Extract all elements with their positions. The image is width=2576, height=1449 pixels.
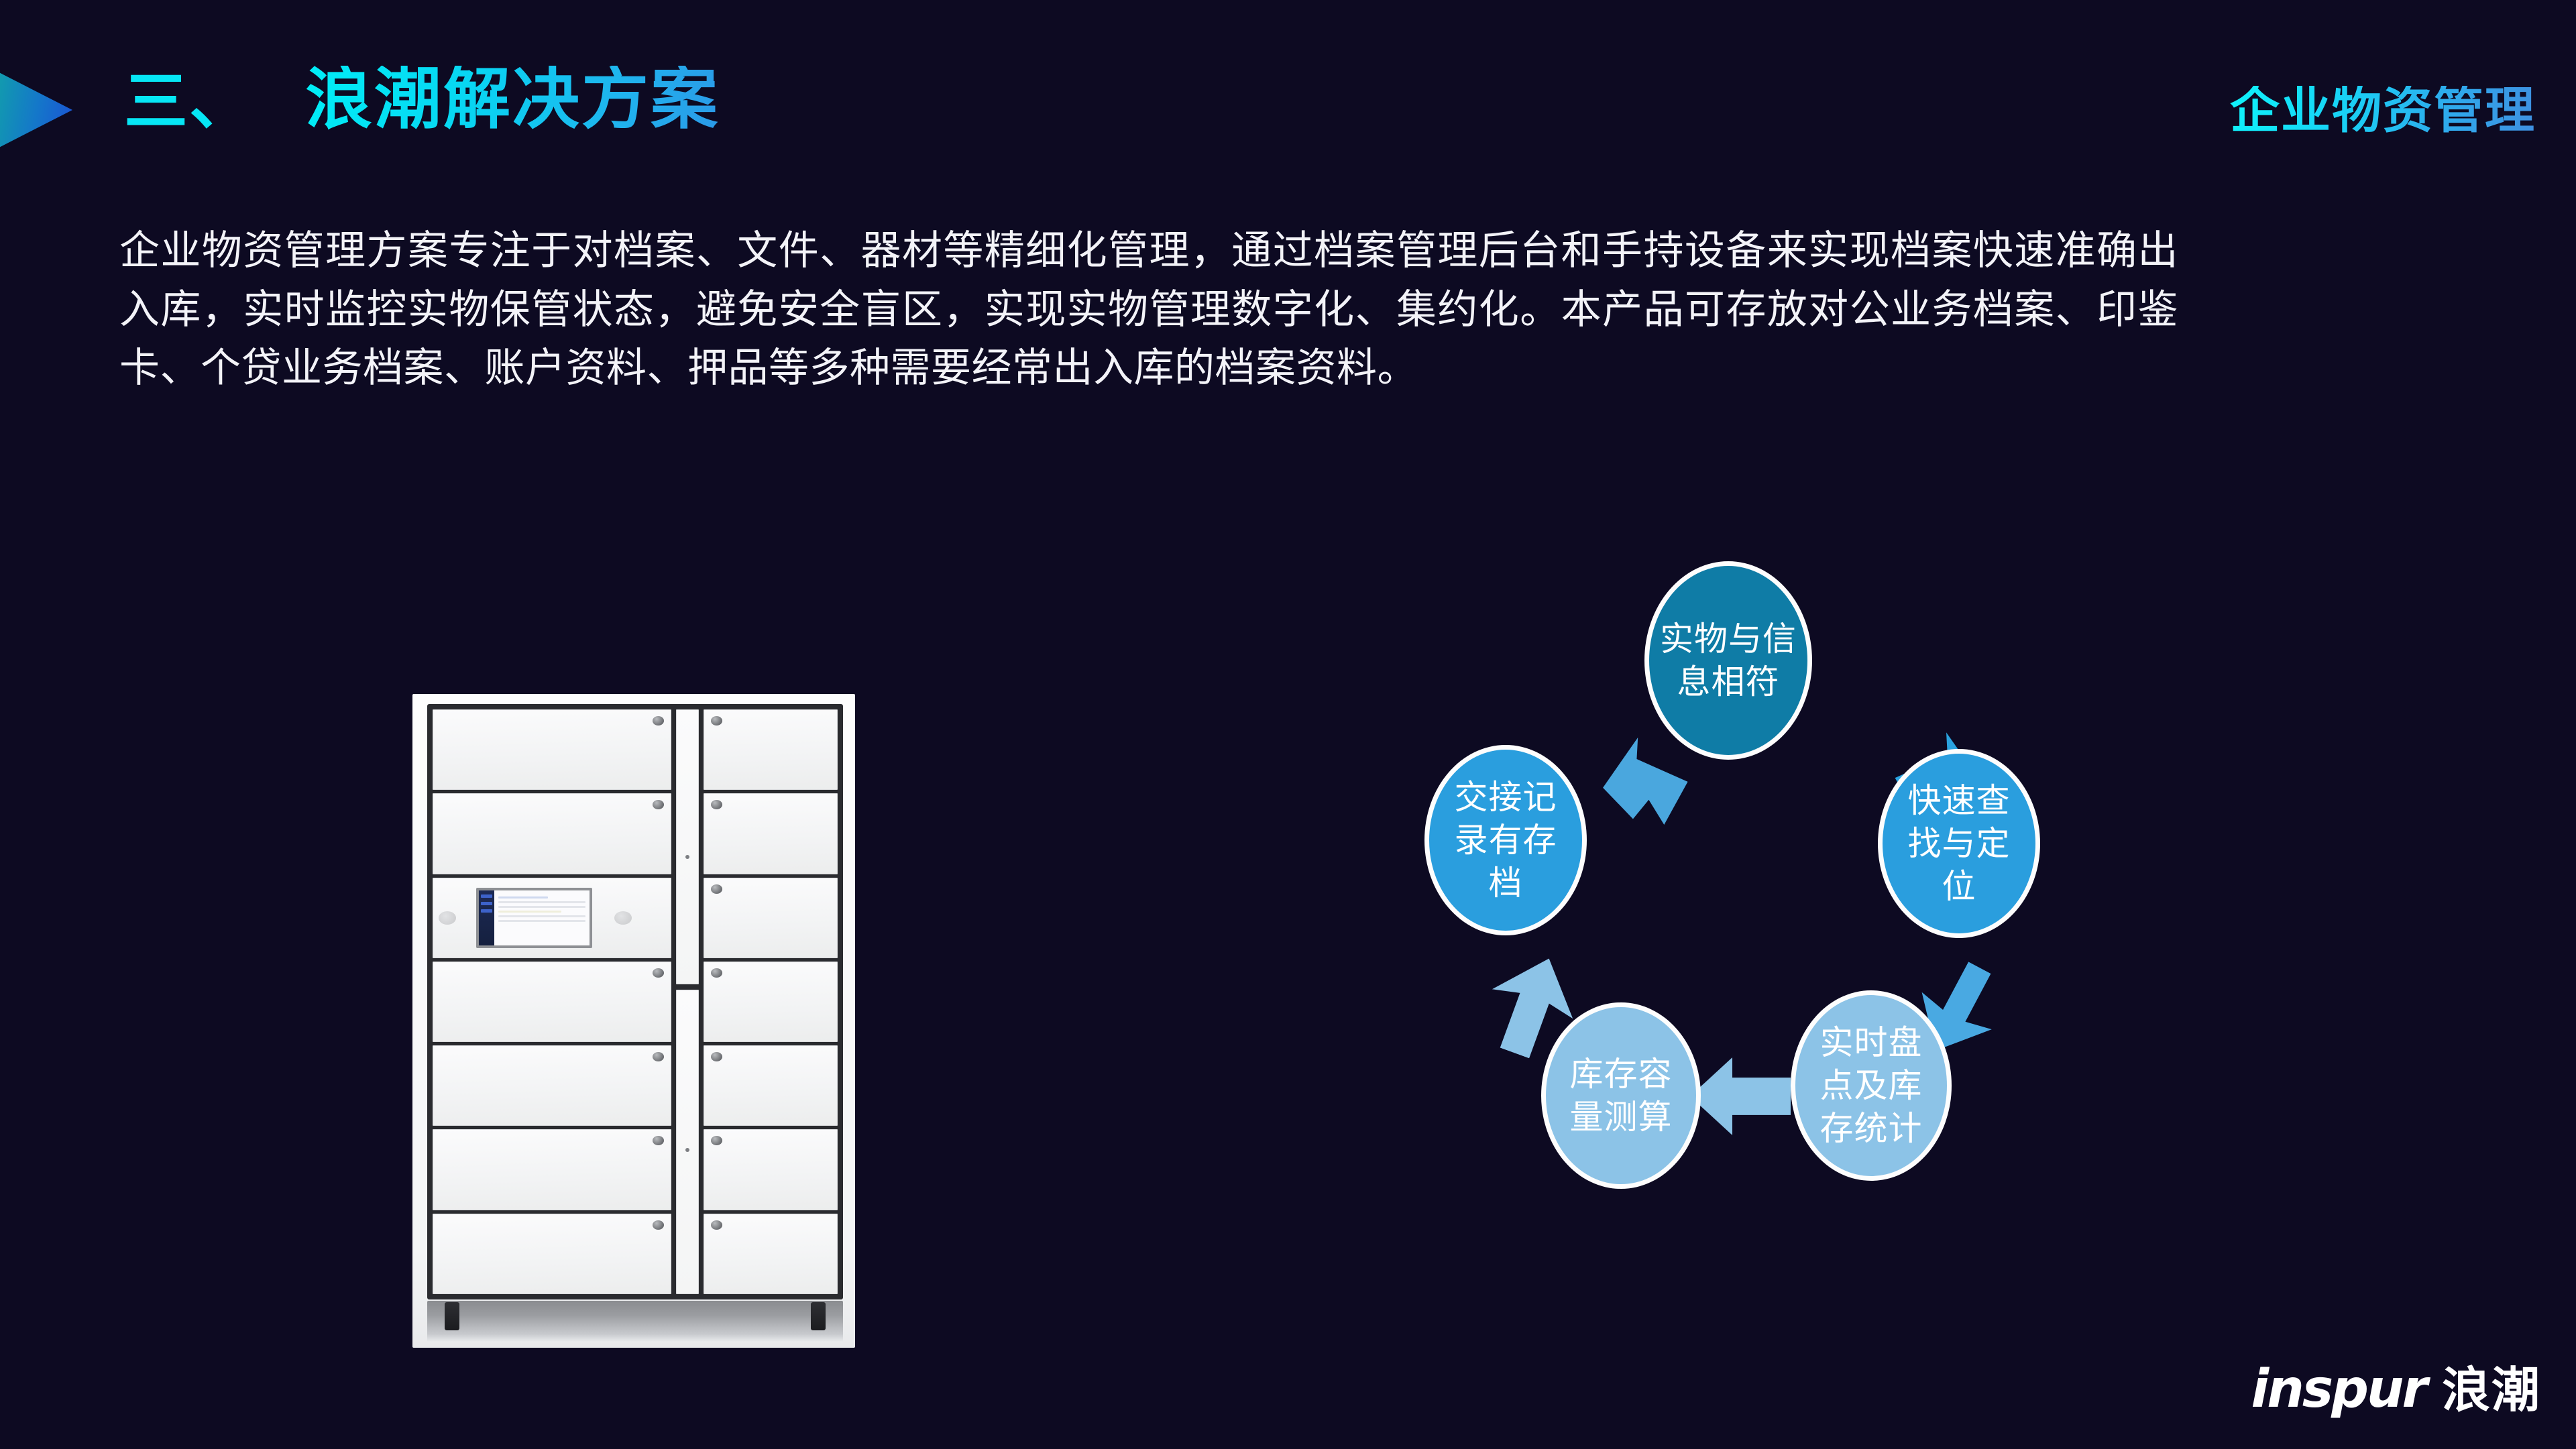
caster-wheel-icon <box>445 1302 459 1330</box>
screen-sidebar-item <box>481 909 492 913</box>
cycle-arrow-5-to-1-icon <box>1593 726 1693 827</box>
locker-door <box>704 1214 838 1294</box>
screen-sidebar-item <box>481 894 492 898</box>
screen-sidebar-item <box>481 902 492 905</box>
locker-control-panel <box>433 878 671 958</box>
section-number: 三、 <box>124 70 254 134</box>
screen-row <box>498 906 585 908</box>
slide-header: 三、 浪潮解决方案 企业物资管理 <box>0 0 2576 178</box>
locker-door <box>704 793 838 874</box>
locker-door <box>433 709 671 790</box>
speaker-icon <box>439 911 456 925</box>
lock-knob-icon <box>711 1052 722 1061</box>
cycle-node-3[interactable]: 实时盘点及库存统计 <box>1791 990 1952 1181</box>
inspur-logo: inspur 浪潮 <box>2251 1350 2541 1421</box>
locker-door <box>704 1045 838 1126</box>
body-paragraph: 企业物资管理方案专注于对档案、文件、器材等精细化管理，通过档案管理后台和手持设备… <box>119 221 2178 398</box>
lock-knob-icon <box>653 1052 664 1061</box>
logo-wordmark: inspur <box>2251 1359 2426 1419</box>
page-title: 浪潮解决方案 <box>305 66 720 133</box>
locker-door <box>704 709 838 790</box>
cycle-node-1[interactable]: 实物与信息相符 <box>1644 561 1812 760</box>
locker-door <box>433 1129 671 1210</box>
lock-pin-icon <box>685 855 689 859</box>
lock-knob-icon <box>653 1220 664 1230</box>
locker-touchscreen[interactable] <box>476 888 593 948</box>
locker-door <box>433 793 671 874</box>
logo-chinese: 浪潮 <box>2442 1350 2541 1421</box>
screen-row <box>498 901 585 903</box>
caster-wheel-icon <box>811 1302 826 1330</box>
cycle-arrow-3-to-4-icon <box>1690 1057 1791 1135</box>
screen-row <box>498 896 548 899</box>
lock-knob-icon <box>653 800 664 809</box>
screen-content <box>494 890 590 945</box>
cycle-diagram: 实物与信息相符 快速查找与定位 实时盘点及库存统计 库存容量测算 交接记录有存档 <box>1355 560 2227 1331</box>
lock-pin-icon <box>685 1148 689 1152</box>
lock-knob-icon <box>711 716 722 726</box>
lock-knob-icon <box>711 800 722 809</box>
smart-locker-image <box>412 694 855 1348</box>
locker-base <box>427 1301 843 1342</box>
lock-knob-icon <box>711 968 722 978</box>
lock-knob-icon <box>711 1136 722 1145</box>
screen-sidebar <box>479 890 494 945</box>
screen-row <box>498 911 561 913</box>
screen-row <box>498 920 585 922</box>
locker-tall-door <box>676 990 698 1294</box>
locker-door <box>704 962 838 1042</box>
cycle-node-2[interactable]: 快速查找与定位 <box>1878 749 2040 938</box>
locker-door <box>433 1045 671 1126</box>
lock-knob-icon <box>653 716 664 726</box>
cycle-node-4[interactable]: 库存容量测算 <box>1541 1002 1701 1189</box>
section-tag: 企业物资管理 <box>2230 86 2536 135</box>
screen-row <box>498 915 585 917</box>
locker-door <box>704 1129 838 1210</box>
lock-knob-icon <box>711 1220 722 1230</box>
locker-column-left <box>433 709 671 1294</box>
locker-tall-door <box>676 709 698 984</box>
lock-knob-icon <box>653 1136 664 1145</box>
locker-column-right <box>704 709 838 1294</box>
locker-column-center <box>676 709 698 1294</box>
locker-door <box>433 962 671 1042</box>
locker-door <box>704 878 838 958</box>
locker-cabinet <box>427 704 843 1299</box>
lock-knob-icon <box>711 884 722 894</box>
cycle-node-5[interactable]: 交接记录有存档 <box>1424 745 1587 935</box>
lock-knob-icon <box>653 968 664 978</box>
locker-door <box>433 1214 671 1294</box>
speaker-icon <box>614 911 632 925</box>
